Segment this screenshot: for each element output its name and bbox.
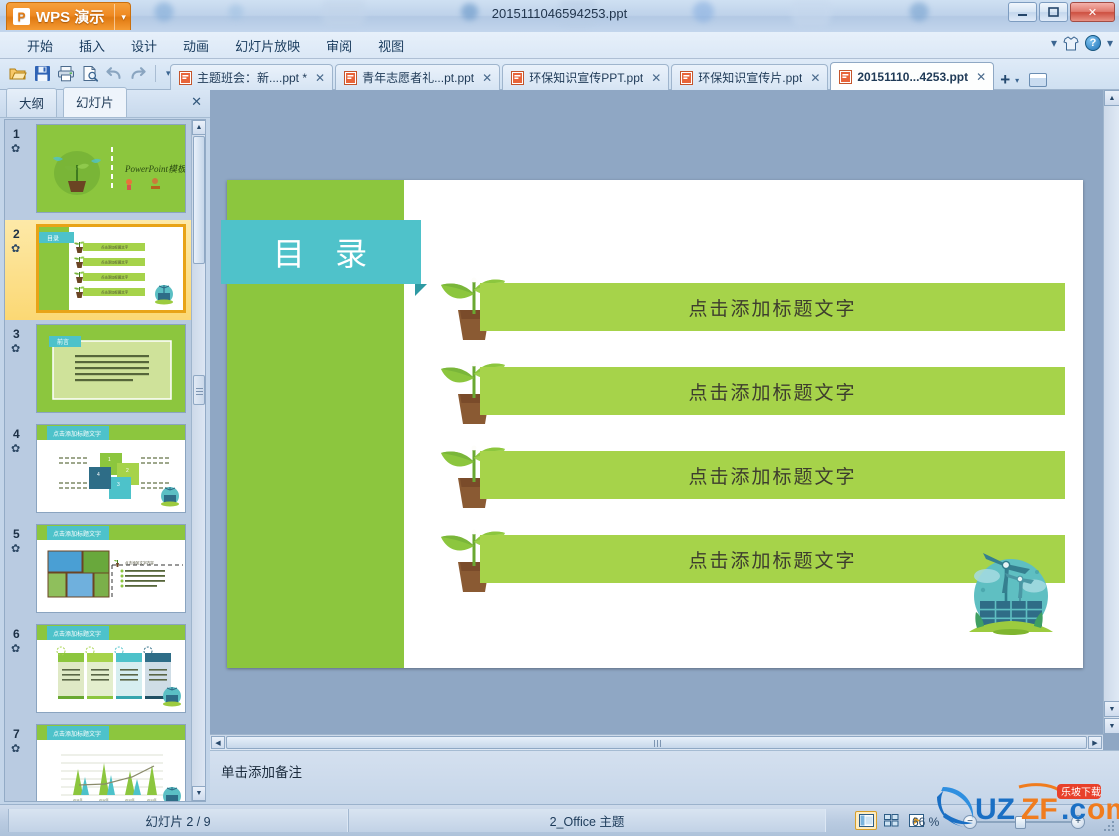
slide-row-3-bar[interactable]: 点击添加标题文字 xyxy=(480,451,1065,499)
menu-bar-right-tools: ▾ ? ▾ xyxy=(1051,35,1113,51)
svg-text:点击添加标题文字: 点击添加标题文字 xyxy=(101,275,129,280)
wind-turbine-solar-panel-icon xyxy=(963,544,1059,650)
svg-text:2011年: 2011年 xyxy=(73,797,82,802)
notes-placeholder: 单击添加备注 xyxy=(221,761,302,781)
thumbnail-number: 6 xyxy=(13,627,20,641)
zoom-slider-knob[interactable] xyxy=(1015,816,1026,829)
undo-icon[interactable] xyxy=(104,63,124,84)
doc-tab-3-close-icon[interactable]: ✕ xyxy=(651,71,661,85)
banner-fold-decoration xyxy=(415,284,427,296)
document-tab-bar: ▾ 主题班会：新....ppt * ✕ xyxy=(0,59,1119,90)
slide-row-4-text: 点击添加标题文字 xyxy=(688,546,856,573)
wps-presentation-window: P WPS 演示 ▾ 2015111046594253.ppt ✕ 开始 插入 … xyxy=(0,0,1119,836)
window-list-icon[interactable] xyxy=(1029,73,1047,87)
doc-tab-5-close-icon[interactable]: ✕ xyxy=(976,70,986,84)
thumbnail-slide-4[interactable]: 4 ✿ 点击添加标题文字 1 2 3 4 xyxy=(5,420,193,520)
animation-star-icon: ✿ xyxy=(11,542,18,555)
slide-area-vertical-scrollbar[interactable]: ▲ ▼ ▼ xyxy=(1103,90,1119,734)
minimize-button[interactable] xyxy=(1008,2,1037,22)
notes-pane[interactable]: 单击添加备注 xyxy=(210,750,1119,804)
animation-star-icon: ✿ xyxy=(11,442,18,455)
ppt-file-icon xyxy=(839,70,852,84)
slide-scroll-up-icon[interactable]: ▲ xyxy=(1104,90,1119,106)
zoom-in-button[interactable]: + xyxy=(1071,815,1085,829)
doc-tab-1[interactable]: 主题班会：新....ppt * ✕ xyxy=(170,64,333,90)
thumbnail-preview: PowerPoint模板 xyxy=(36,124,186,213)
svg-text:2: 2 xyxy=(126,468,129,474)
normal-view-icon xyxy=(859,814,874,827)
scrollbar-thumb[interactable] xyxy=(193,136,205,264)
zoom-out-button[interactable]: − xyxy=(963,815,977,829)
menu-items: 开始 插入 设计 动画 幻灯片放映 审阅 视图 xyxy=(0,32,1119,59)
svg-text:2012年: 2012年 xyxy=(99,797,109,802)
window-controls: ✕ xyxy=(1008,2,1115,22)
thumbnail-preview: 前言 xyxy=(36,324,186,413)
new-tab-button[interactable]: + xyxy=(1000,73,1010,87)
slides-panel-scrollbar[interactable]: ▲ ▼ xyxy=(191,120,205,801)
slide-scroll-down-icon[interactable]: ▼ xyxy=(1104,701,1119,717)
thumbnail-number: 5 xyxy=(13,527,20,541)
svg-text:PowerPoint模板: PowerPoint模板 xyxy=(124,164,186,174)
doc-tab-4-close-icon[interactable]: ✕ xyxy=(810,71,820,85)
doc-tab-1-close-icon[interactable]: ✕ xyxy=(315,71,325,85)
slide-editing-area: 目 录 点击添加标题文字 xyxy=(210,90,1119,750)
zoom-level-label: 66 % xyxy=(912,815,939,829)
ppt-file-icon xyxy=(680,71,693,85)
svg-text:4: 4 xyxy=(97,472,100,478)
menu-item-view[interactable]: 视图 xyxy=(365,32,417,59)
svg-text:点击添加标题文字: 点击添加标题文字 xyxy=(101,260,129,265)
quick-access-toolbar: ▾ xyxy=(8,63,174,84)
doc-tab-4[interactable]: 环保知识宣传片.ppt ✕ xyxy=(671,64,828,90)
svg-text:2013年: 2013年 xyxy=(125,797,135,802)
thumbnail-number: 3 xyxy=(13,327,20,341)
thumbnail-container: 1 ✿ xyxy=(5,120,193,802)
status-bar: 幻灯片 2 / 9 2_Office 主题 xyxy=(0,804,1119,836)
svg-text:点击添加标题文字: 点击添加标题文字 xyxy=(53,430,101,438)
print-icon[interactable] xyxy=(56,63,76,84)
slides-thumbnail-list[interactable]: 1 ✿ xyxy=(4,119,206,802)
thumbnail-slide-1[interactable]: 1 ✿ xyxy=(5,120,193,220)
thumbnail-number: 7 xyxy=(13,727,20,741)
ppt-file-icon xyxy=(179,71,192,85)
slide-title-banner[interactable]: 目 录 xyxy=(221,220,421,284)
redo-icon[interactable] xyxy=(128,63,148,84)
svg-text:前言: 前言 xyxy=(57,338,69,346)
next-slide-icon[interactable]: ▼ xyxy=(1104,718,1119,734)
doc-tab-3[interactable]: 环保知识宣传PPT.ppt ✕ xyxy=(502,64,669,90)
svg-text:点击添加标题文字: 点击添加标题文字 xyxy=(53,630,101,638)
slide-sorter-view-button[interactable] xyxy=(880,811,902,830)
thumbnail-preview: 点击添加标题文字 1 2 3 4 xyxy=(36,424,186,513)
svg-text:2014年: 2014年 xyxy=(147,797,157,802)
tab-slides[interactable]: 幻灯片 xyxy=(63,87,127,117)
menu-item-slideshow[interactable]: 幻灯片放映 xyxy=(222,32,313,59)
animation-star-icon: ✿ xyxy=(11,742,18,755)
slide-row-3[interactable]: 点击添加标题文字 xyxy=(435,434,1065,518)
thumbnail-slide-6[interactable]: 6 ✿ 点击添加标题文字 xyxy=(5,620,193,720)
slides-panel-close-icon[interactable]: ✕ xyxy=(191,95,202,110)
svg-text:点击添加标题文字: 点击添加标题文字 xyxy=(101,290,129,295)
doc-tab-3-label: 环保知识宣传PPT.ppt xyxy=(529,69,643,86)
doc-tab-5-active[interactable]: 20151110...4253.ppt ✕ xyxy=(830,62,994,90)
animation-star-icon: ✿ xyxy=(11,642,18,655)
thumbnail-number: 1 xyxy=(13,127,20,141)
thumbnail-number: 2 xyxy=(13,227,20,241)
slide-row-1-text: 点击添加标题文字 xyxy=(688,294,856,321)
open-documents-tabs: 主题班会：新....ppt * ✕ 青年志愿者礼...pt.ppt ✕ xyxy=(170,62,1047,90)
svg-text:目录: 目录 xyxy=(47,235,59,243)
skin-shirt-icon[interactable] xyxy=(1063,36,1079,51)
thumbnail-preview: 点击添加标题文字 xyxy=(36,724,186,802)
thumbnail-number: 4 xyxy=(13,427,20,441)
ppt-file-icon xyxy=(511,71,524,85)
scroll-left-arrow-icon[interactable]: ◀ xyxy=(211,736,225,749)
slide-row-3-text: 点击添加标题文字 xyxy=(688,462,856,489)
slide-row-1-bar[interactable]: 点击添加标题文字 xyxy=(480,283,1065,331)
help-icon[interactable]: ? xyxy=(1085,35,1101,51)
slide-row-2[interactable]: 点击添加标题文字 xyxy=(435,350,1065,434)
chevron-down-icon[interactable]: ▾ xyxy=(1051,36,1057,50)
slides-panel-tabs: 大纲 幻灯片 ✕ xyxy=(0,90,210,118)
doc-tab-4-label: 环保知识宣传片.ppt xyxy=(698,69,802,86)
animation-star-icon: ✿ xyxy=(11,242,18,255)
svg-text:点击添加文字内容: 点击添加文字内容 xyxy=(125,560,154,565)
new-tab-group: + ▾ xyxy=(1000,73,1047,90)
slide-row-2-text: 点击添加标题文字 xyxy=(688,378,856,405)
animation-star-icon: ✿ xyxy=(11,342,18,355)
ppt-file-icon xyxy=(344,71,357,85)
menu-item-insert[interactable]: 插入 xyxy=(66,32,118,59)
svg-text:点击添加标题文字: 点击添加标题文字 xyxy=(53,530,101,538)
menu-item-animation[interactable]: 动画 xyxy=(170,32,222,59)
slide-row-2-bar[interactable]: 点击添加标题文字 xyxy=(480,367,1065,415)
scroll-up-arrow-icon[interactable]: ▲ xyxy=(192,120,206,135)
resize-grip-icon[interactable] xyxy=(1104,821,1116,833)
current-slide[interactable]: 目 录 点击添加标题文字 xyxy=(227,180,1083,668)
doc-tab-2[interactable]: 青年志愿者礼...pt.ppt ✕ xyxy=(335,64,500,90)
slide-counter: 幻灯片 2 / 9 xyxy=(8,809,348,832)
menu-item-home[interactable]: 开始 xyxy=(14,32,66,59)
thumbnail-slide-7[interactable]: 7 ✿ 点击添加标题文字 xyxy=(5,720,193,802)
normal-view-button[interactable] xyxy=(855,811,877,830)
close-button[interactable]: ✕ xyxy=(1070,2,1115,22)
svg-text:点击添加标题文字: 点击添加标题文字 xyxy=(101,245,129,250)
print-preview-icon[interactable] xyxy=(80,63,100,84)
theme-name: 2_Office 主题 xyxy=(348,809,826,832)
help-chevron-down-icon[interactable]: ▾ xyxy=(1107,36,1113,50)
maximize-button[interactable] xyxy=(1039,2,1068,22)
svg-text:1: 1 xyxy=(108,457,111,463)
thumbnail-slide-2[interactable]: 2 ✿ 目录 xyxy=(5,220,193,320)
tab-outline[interactable]: 大纲 xyxy=(6,88,57,117)
scroll-down-arrow-icon[interactable]: ▼ xyxy=(192,786,206,801)
slide-title-text: 目 录 xyxy=(265,229,377,275)
document-title: 2015111046594253.ppt xyxy=(0,6,1119,21)
menu-item-review[interactable]: 审阅 xyxy=(313,32,365,59)
title-bar: P WPS 演示 ▾ 2015111046594253.ppt ✕ xyxy=(0,0,1119,32)
doc-tab-2-close-icon[interactable]: ✕ xyxy=(482,71,492,85)
svg-text:点击添加标题文字: 点击添加标题文字 xyxy=(53,730,101,738)
thumbnail-slide-5[interactable]: 5 ✿ 点击添加标题文字 xyxy=(5,520,193,620)
menu-bar: 开始 插入 设计 动画 幻灯片放映 审阅 视图 ▾ ? ▾ xyxy=(0,32,1119,59)
doc-tab-2-label: 青年志愿者礼...pt.ppt xyxy=(362,69,474,86)
horizontal-scrollbar-thumb[interactable] xyxy=(226,736,1087,749)
animation-star-icon: ✿ xyxy=(11,142,18,155)
open-icon[interactable] xyxy=(8,63,28,84)
save-icon[interactable] xyxy=(32,63,52,84)
slide-row-1[interactable]: 点击添加标题文字 xyxy=(435,266,1065,350)
scrollbar-grip-handle[interactable] xyxy=(193,375,205,405)
doc-tab-1-label: 主题班会：新....ppt * xyxy=(197,69,307,86)
scroll-right-arrow-icon[interactable]: ▶ xyxy=(1088,736,1102,749)
menu-item-design[interactable]: 设计 xyxy=(118,32,170,59)
doc-tab-5-label: 20151110...4253.ppt xyxy=(857,70,968,84)
thumbnail-preview: 目录 点击添加标题文字 点击添加标题文字 xyxy=(36,224,186,313)
slides-panel: 大纲 幻灯片 ✕ 1 ✿ xyxy=(0,90,210,804)
toolbar-separator xyxy=(155,65,156,82)
slide-area-horizontal-scrollbar[interactable]: ◀ ▶ xyxy=(210,734,1103,750)
zoom-slider[interactable]: − + xyxy=(963,814,1085,830)
thumbnail-preview: 点击添加标题文字 xyxy=(36,624,186,713)
thumbnail-preview: 点击添加标题文字 点击添加文字内容 xyxy=(36,524,186,613)
slide-sorter-view-icon xyxy=(884,814,899,827)
thumbnail-slide-3[interactable]: 3 ✿ 前言 xyxy=(5,320,193,420)
new-tab-chevron-down-icon[interactable]: ▾ xyxy=(1012,76,1022,85)
svg-text:3: 3 xyxy=(117,482,120,488)
